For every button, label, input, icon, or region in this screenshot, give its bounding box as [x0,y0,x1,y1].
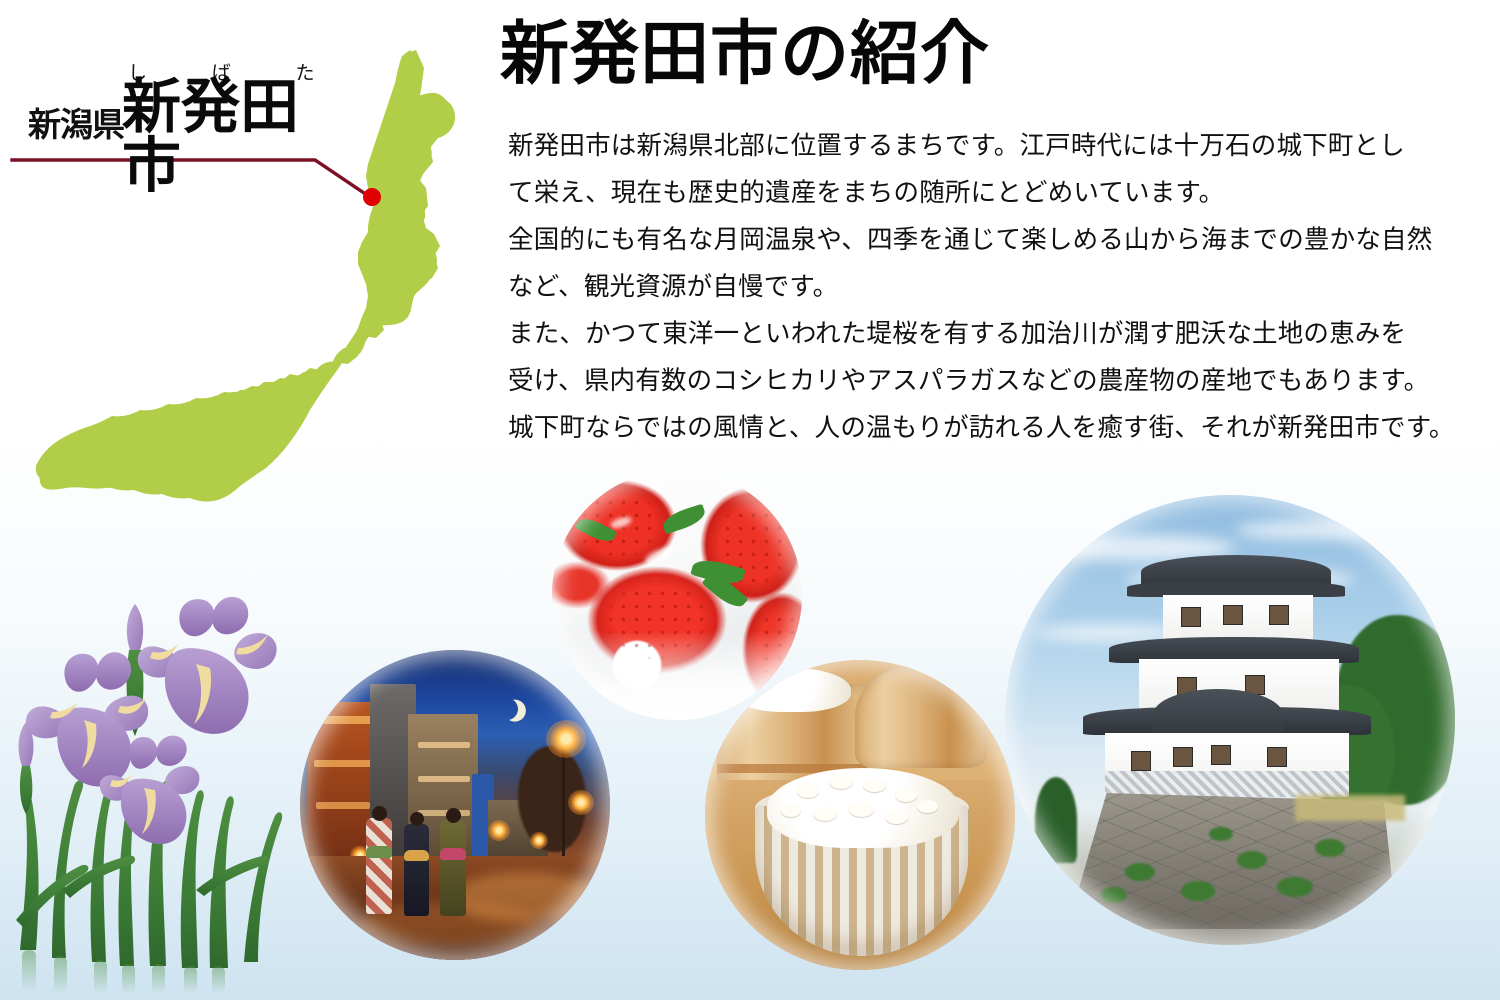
shrub [1277,877,1313,897]
iris-svg [0,590,320,1000]
iris-flowers-illustration [0,590,320,1000]
shrub [1237,851,1267,869]
page-title: 新発田市の紹介 [500,18,990,90]
cloud [1235,521,1385,539]
castle-window [1269,605,1289,625]
street-lamp-glow [568,790,594,815]
shibata-castle-photo [1005,495,1455,945]
photo-bottom-fade [552,631,802,720]
building-window-row [418,776,470,782]
iris-flower-left [26,652,148,786]
castle-window [1211,745,1231,765]
intro-line: 新発田市は新潟県北部に位置するまちです。江戸時代には十万石の城下町とし [508,122,1470,169]
shrub [1125,863,1155,881]
figure-head [410,812,424,826]
intro-line: て栄え、現在も歴史的遺産をまちの随所にとどめいています。 [508,169,1470,216]
namako-wall [1105,771,1349,797]
castle-window [1131,751,1151,771]
iris-flower-right [138,597,277,734]
yukata-figure [404,824,429,916]
city-label: 新発田市 [122,78,350,196]
castle-window [1223,605,1243,625]
shrub [1181,881,1215,901]
ohitsu-lid [855,664,987,768]
dry-grass [1295,795,1405,821]
crescent-moon [493,695,521,723]
rice-grain [829,774,853,789]
building-eave [314,760,372,767]
intro-paragraphs: 新発田市は新潟県北部に位置するまちです。江戸時代には十万石の城下町とし て栄え、… [508,122,1470,451]
street-lamp-glow [530,832,548,849]
iris-bud-left [19,722,34,814]
rice-grain [917,800,938,813]
rice-grain [885,810,908,824]
rice-grain [895,788,917,802]
building-window-row [418,742,470,748]
intro-line: 受け、県内有数のコシヒカリやアスパラガスなどの農産物の産地でもあります。 [508,357,1470,404]
rice-grain [863,778,886,792]
building-eave [316,802,370,809]
shrub [1315,839,1345,857]
prefecture-label: 新潟県 [28,98,124,146]
figure-head [446,808,461,823]
building-eave [312,716,374,724]
castle-window [1173,747,1193,767]
yukata-obi [404,850,429,861]
yukata-figure [366,818,392,914]
castle-window [1181,607,1201,627]
map-label-block: し ば た 新潟県 新発田市 [10,58,350,168]
intro-line: 城下町ならではの風情と、人の温もりが訪れる人を癒す街、それが新発田市です。 [508,404,1470,451]
page-root: し ば た 新潟県 新発田市 新発田市の紹介 新発田市は新潟県北部に位置するまち… [0,0,1500,1000]
yukata-figure [440,820,466,916]
rice-grain [797,784,819,798]
tree [1035,777,1077,863]
yukata-obi [366,846,392,858]
intro-line: また、かつて東洋一といわれた堤桜を有する加治川が潤す肥沃な土地の恵みを [508,310,1470,357]
rice-grain [849,802,874,817]
shrub [1209,827,1233,841]
street-lamp-glow [488,820,510,841]
street-lamp-glow [546,720,586,758]
figure-head [372,806,387,821]
yukata-obi [440,848,466,860]
rice-grain [813,806,837,821]
building-window-row [418,810,470,816]
castle-window [1267,747,1287,767]
rice-grain [781,804,801,817]
shrub [1101,887,1127,903]
intro-line: など、観光資源が自慢です。 [508,263,1470,310]
intro-line: 全国的にも有名な月岡温泉や、四季を通じて楽しめる山から海までの豊かな自然 [508,216,1470,263]
strawberry-photo [552,470,802,720]
